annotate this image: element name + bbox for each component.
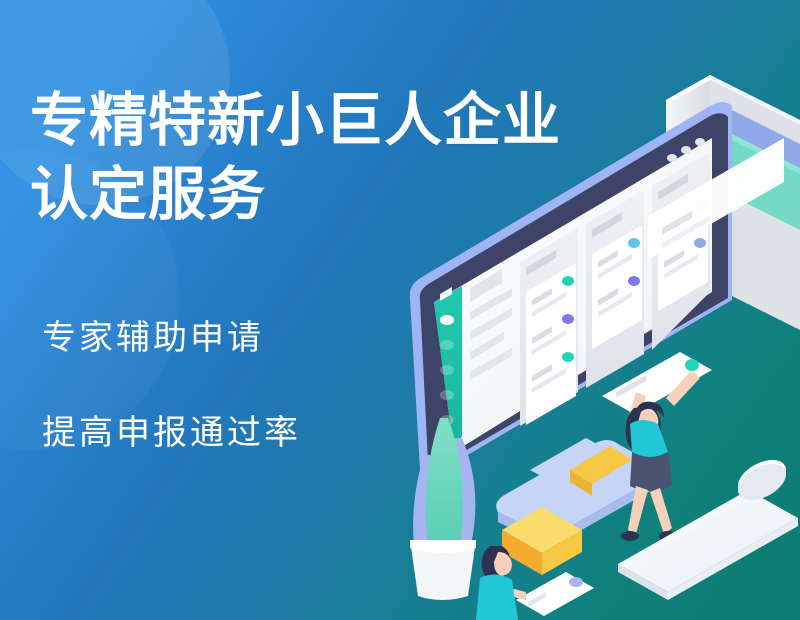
promo-banner: 专精特新小巨人企业 认定服务 专家辅助申请 提高申报通过率 — [0, 0, 800, 620]
title-line-2: 认定服务 — [30, 158, 500, 232]
title-group: 专精特新小巨人企业 认定服务 — [30, 84, 500, 232]
title-line-1: 专精特新小巨人企业 — [30, 84, 500, 158]
subtitle-spacer — [42, 358, 301, 413]
subtitle-line-2: 提高申报通过率 — [42, 413, 301, 453]
keyboard — [618, 490, 798, 600]
subtitle-line-1: 专家辅助申请 — [42, 318, 301, 358]
sidebar-nav-active — [440, 315, 454, 325]
subtitle-group: 专家辅助申请 提高申报通过率 — [42, 318, 301, 453]
